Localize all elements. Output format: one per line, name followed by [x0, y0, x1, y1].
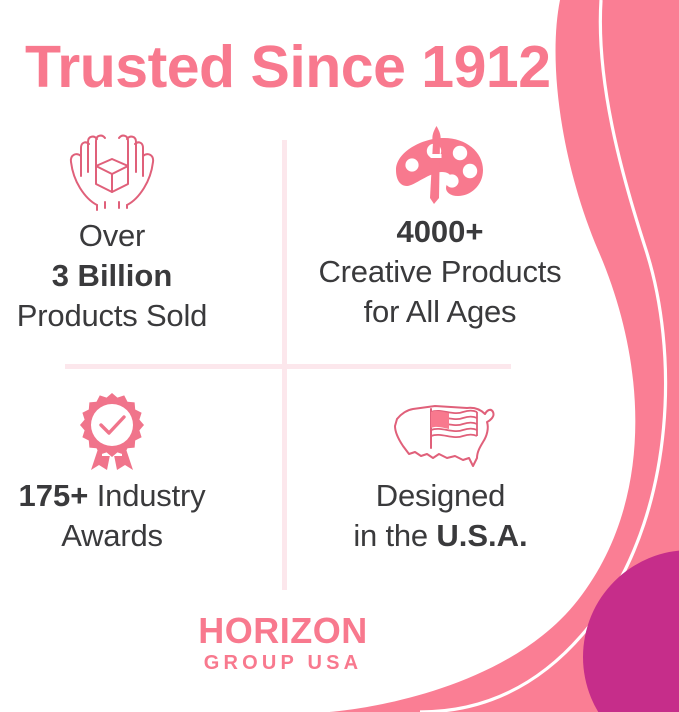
- feature-4-text: Designed in the U.S.A.: [353, 476, 527, 556]
- feature-1-text: Over 3 Billion Products Sold: [17, 216, 207, 336]
- logo-wordmark: HORIZON: [0, 612, 566, 650]
- feature-creative-products: 4000+ Creative Products for All Ages: [315, 126, 565, 332]
- feature-2-line-2: Creative Products: [319, 252, 562, 292]
- logo-tagline: GROUP USA: [0, 652, 566, 674]
- usa-map-flag-icon: [381, 390, 501, 476]
- feature-3-text: 175+ Industry Awards: [19, 476, 206, 556]
- feature-2-line-3: for All Ages: [319, 292, 562, 332]
- feature-4-line-2: in the U.S.A.: [353, 516, 527, 556]
- page-title: Trusted Since 1912: [25, 36, 585, 98]
- hands-holding-box-icon: [59, 130, 165, 216]
- feature-2-text: 4000+ Creative Products for All Ages: [319, 212, 562, 332]
- award-ribbon-check-icon: [66, 390, 158, 476]
- infographic-canvas: Trusted Since 1912: [0, 0, 679, 712]
- brand-logo: HORIZON GROUP USA: [0, 612, 566, 674]
- paint-palette-brush-icon: [390, 126, 490, 212]
- feature-2-line-1: 4000+: [319, 212, 562, 252]
- feature-3-line-2: Awards: [19, 516, 206, 556]
- decorative-swoosh-group: [0, 0, 679, 712]
- feature-4-line-1: Designed: [353, 476, 527, 516]
- feature-1-line-3: Products Sold: [17, 296, 207, 336]
- thin-white-curve: [420, 0, 666, 712]
- pink-crescent-swoosh: [330, 0, 679, 712]
- feature-1-line-1: Over: [17, 216, 207, 256]
- feature-3-line-1: 175+ Industry: [19, 476, 206, 516]
- feature-products-sold: Over 3 Billion Products Sold: [0, 130, 238, 336]
- feature-designed-usa: Designed in the U.S.A.: [318, 390, 563, 556]
- feature-1-line-2: 3 Billion: [17, 256, 207, 296]
- feature-industry-awards: 175+ Industry Awards: [0, 390, 232, 556]
- magenta-circle-bottom-right: [583, 550, 679, 712]
- divider-horizontal: [65, 364, 511, 369]
